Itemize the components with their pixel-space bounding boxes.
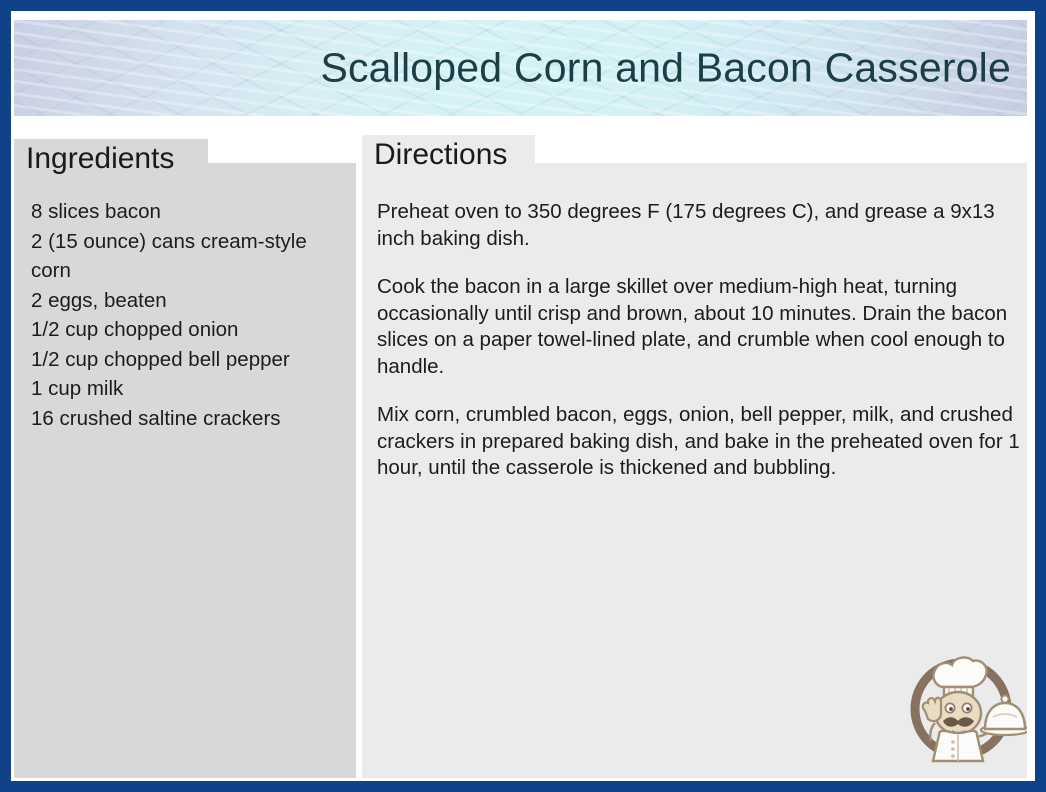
directions-heading: Directions: [362, 135, 535, 179]
ingredient-item: 2 eggs, beaten: [31, 286, 351, 316]
page-title: Scalloped Corn and Bacon Casserole: [320, 45, 1011, 92]
recipe-slide: Scalloped Corn and Bacon Casserole: [0, 0, 1046, 792]
ingredient-item: 1 cup milk: [31, 374, 351, 404]
ingredient-item: 8 slices bacon: [31, 197, 351, 227]
ingredients-heading: Ingredients: [14, 139, 208, 183]
ingredient-item: 16 crushed saltine crackers: [31, 404, 351, 434]
title-banner: Scalloped Corn and Bacon Casserole: [14, 20, 1027, 116]
ingredient-item: 1/2 cup chopped bell pepper: [31, 345, 351, 375]
chef-logo: [895, 635, 1027, 767]
direction-step: Mix corn, crumbled bacon, eggs, onion, b…: [377, 402, 1029, 482]
direction-step: Preheat oven to 350 degrees F (175 degre…: [377, 199, 1029, 252]
direction-step: Cook the bacon in a large skillet over m…: [377, 274, 1029, 380]
slide-inner: Scalloped Corn and Bacon Casserole: [11, 11, 1035, 781]
ingredient-item: 1/2 cup chopped onion: [31, 315, 351, 345]
ingredients-list: 8 slices bacon2 (15 ounce) cans cream-st…: [31, 197, 351, 433]
ingredient-item: 2 (15 ounce) cans cream-style corn: [31, 227, 351, 286]
directions-steps: Preheat oven to 350 degrees F (175 degre…: [377, 199, 1029, 482]
